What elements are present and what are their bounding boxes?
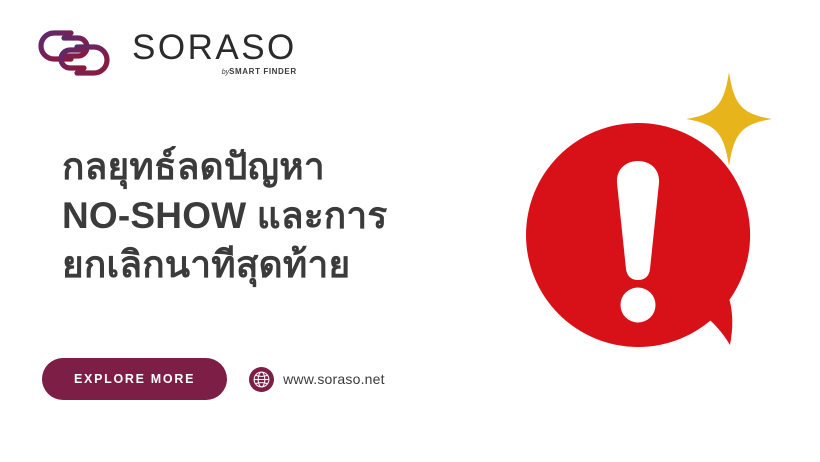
globe-icon bbox=[249, 367, 274, 392]
brand-tagline: bySMART FINDER bbox=[222, 68, 297, 76]
headline: กลยุทธ์ลดปัญหา NO-SHOW และการ ยกเลิกนาที… bbox=[62, 142, 482, 290]
promo-banner: SORASO bySMART FINDER กลยุทธ์ลดปัญหา NO-… bbox=[0, 0, 820, 462]
explore-more-button[interactable]: EXPLORE MORE bbox=[42, 358, 227, 400]
soraso-monogram-icon bbox=[30, 24, 118, 82]
website-link[interactable]: www.soraso.net bbox=[249, 367, 385, 392]
alert-artwork bbox=[488, 62, 788, 362]
website-url-text: www.soraso.net bbox=[283, 371, 385, 387]
exclamation-mark-icon bbox=[617, 161, 659, 323]
headline-line-1: กลยุทธ์ลดปัญหา bbox=[62, 142, 482, 191]
headline-line-3: ยกเลิกนาทีสุดท้าย bbox=[62, 240, 482, 289]
brand-wordmark: SORASO bbox=[132, 30, 297, 65]
brand-logo[interactable]: SORASO bySMART FINDER bbox=[30, 24, 297, 82]
headline-line-2: NO-SHOW และการ bbox=[62, 191, 482, 240]
cta-row: EXPLORE MORE www.soraso.net bbox=[42, 358, 385, 400]
